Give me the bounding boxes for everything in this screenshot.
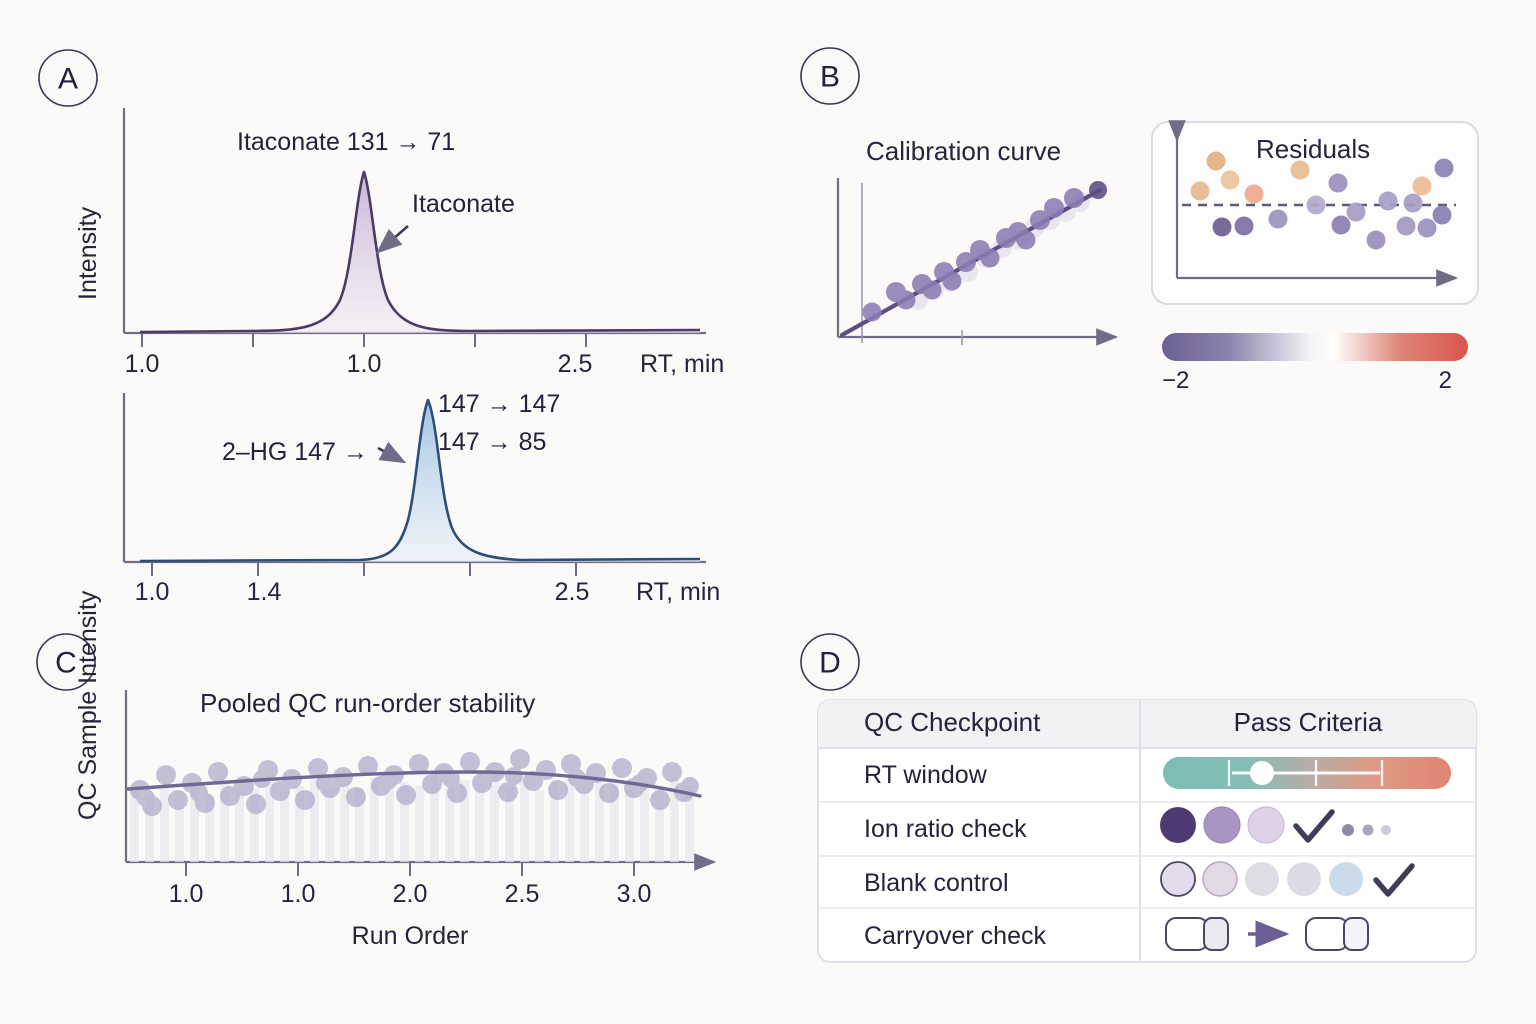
colorbar-max-label: 2 xyxy=(1439,367,1452,394)
panel-d: D QC Checkpoint Pass Criteria RT window xyxy=(801,634,1476,962)
panel-a-bottom-peak-fill xyxy=(140,400,700,562)
panel-a-y-axis-label: Intensity xyxy=(74,206,102,300)
panel-d-letter: D xyxy=(819,647,841,680)
panel-a-top-chart: 1.0 1.0 2.5 RT, min Itaconate 131 → 71 I… xyxy=(124,108,724,378)
qc-row-label-blank-control: Blank control xyxy=(864,869,1009,897)
panel-b-residuals: Residuals xyxy=(1152,122,1478,304)
panel-a-bottom-ticks xyxy=(152,562,576,576)
blank-control-dot-4 xyxy=(1287,862,1321,896)
panel-a-top-tick-1: 1.0 xyxy=(347,350,382,378)
panel-a-top-analyte-label: Itaconate xyxy=(412,190,515,218)
colorbar-min-label: −2 xyxy=(1162,367,1189,394)
blank-control-dot-5 xyxy=(1329,862,1363,896)
panel-a-top-ticks xyxy=(142,333,586,347)
panel-a-bottom-left-label: 2–HG 147 → xyxy=(222,438,368,466)
calibration-curve-title: Calibration curve xyxy=(866,136,1061,166)
ion-ratio-trailing-dot-1 xyxy=(1342,824,1354,836)
blank-control-dot-3 xyxy=(1245,862,1279,896)
panel-a-badge: A xyxy=(39,50,97,106)
qc-row-label-rt-window: RT window xyxy=(864,761,988,789)
panel-b-calibration: Calibration curve xyxy=(838,136,1116,345)
calibration-data-points xyxy=(863,181,1108,322)
qc-table-header-criteria: Pass Criteria xyxy=(1234,707,1383,737)
panel-a-top-x-axis-title: RT, min xyxy=(640,350,724,378)
figure-svg: A Intensity 1.0 1.0 2.5 RT, min Itaconat… xyxy=(0,0,1536,1024)
ion-ratio-trailing-dot-2 xyxy=(1363,825,1374,836)
panel-a: A Intensity 1.0 1.0 2.5 RT, min Itaconat… xyxy=(39,50,724,606)
qc-table: QC Checkpoint Pass Criteria RT window Io… xyxy=(818,700,1476,962)
panel-a-bottom-transition-2: 147 → 85 xyxy=(438,428,546,456)
ion-ratio-dot-3 xyxy=(1248,807,1284,843)
panel-d-badge: D xyxy=(801,634,859,690)
panel-c-tick-2: 2.0 xyxy=(393,880,428,908)
ion-ratio-dot-1 xyxy=(1160,807,1196,843)
panel-a-top-transition-label: Itaconate 131 → 71 xyxy=(237,128,455,156)
figure-canvas: A Intensity 1.0 1.0 2.5 RT, min Itaconat… xyxy=(0,0,1536,1024)
panel-c-x-axis-label: Run Order xyxy=(352,922,469,950)
ion-ratio-dot-2 xyxy=(1204,807,1240,843)
panel-a-bottom-tick-2: 2.5 xyxy=(555,578,590,606)
panel-a-bottom-transition-1: 147 → 147 xyxy=(438,390,560,418)
panel-b-letter: B xyxy=(820,61,840,94)
panel-a-top-tick-2: 2.5 xyxy=(558,350,593,378)
panel-a-bottom-tick-1: 1.4 xyxy=(247,578,282,606)
panel-b-badge: B xyxy=(801,48,859,104)
panel-a-bottom-x-axis-title: RT, min xyxy=(636,578,720,606)
blank-control-dot-1 xyxy=(1161,862,1195,896)
panel-a-bottom-pointer-arrow xyxy=(378,448,404,462)
panel-a-top-pointer-arrow xyxy=(378,226,408,252)
panel-a-bottom-tick-0: 1.0 xyxy=(135,578,170,606)
panel-c-ticks xyxy=(186,862,634,876)
panel-b-colorbar: −2 2 xyxy=(1162,333,1468,394)
qc-row-label-ion-ratio: Ion ratio check xyxy=(864,815,1027,843)
panel-a-letter: A xyxy=(58,63,78,96)
blank-control-dot-2 xyxy=(1203,862,1237,896)
panel-c-tick-4: 3.0 xyxy=(617,880,652,908)
carryover-vial-after xyxy=(1306,918,1368,950)
panel-c: C QC Sample Intensity Pooled QC run-orde… xyxy=(37,590,714,950)
panel-c-tick-0: 1.0 xyxy=(169,880,204,908)
qc-table-header-checkpoint: QC Checkpoint xyxy=(864,707,1041,737)
rt-window-slider-knob[interactable] xyxy=(1250,761,1274,785)
panel-c-tick-1: 1.0 xyxy=(281,880,316,908)
panel-c-title: Pooled QC run-order stability xyxy=(200,688,535,718)
panel-a-bottom-chart: 1.0 1.4 2.5 RT, min 2–HG 147 → 147 → 147… xyxy=(124,390,720,606)
residuals-title: Residuals xyxy=(1256,134,1370,164)
rt-window-slider[interactable] xyxy=(1163,757,1451,789)
panel-c-tick-3: 2.5 xyxy=(505,880,540,908)
panel-b: B Calibration curve xyxy=(801,48,1478,394)
panel-a-top-tick-0: 1.0 xyxy=(125,350,160,378)
panel-c-y-axis-label: QC Sample Intensity xyxy=(74,590,102,820)
carryover-vial-before xyxy=(1166,918,1228,950)
qc-row-label-carryover: Carryover check xyxy=(864,922,1046,950)
colorbar-gradient xyxy=(1162,333,1468,361)
ion-ratio-trailing-dot-3 xyxy=(1381,825,1391,835)
